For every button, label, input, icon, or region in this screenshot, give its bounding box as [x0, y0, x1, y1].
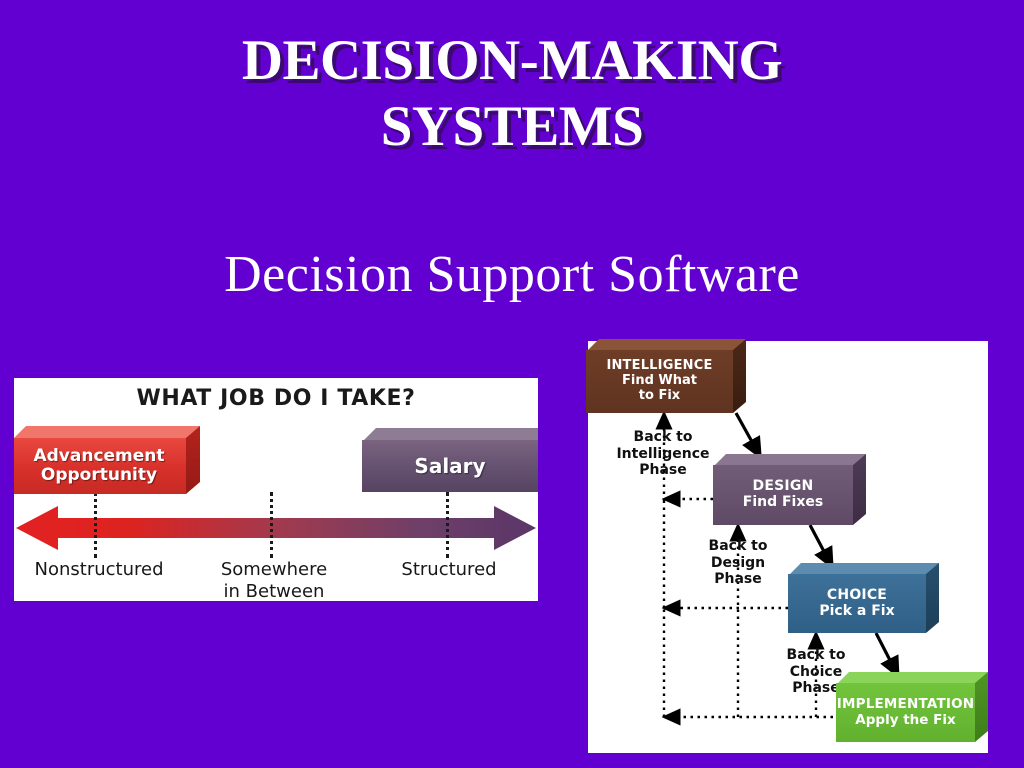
box-advancement-opportunity: Advancement Opportunity [14, 426, 200, 494]
phase-title: CHOICE [827, 588, 887, 604]
axis-label-somewhere-in-between: Somewhere in Between [186, 559, 362, 601]
box-salary-label: Salary [362, 440, 538, 492]
phase-title: IMPLEMENTATION [837, 697, 975, 712]
phase-subtitle: Pick a Fix [819, 604, 894, 620]
phase-box-intelligence: INTELLIGENCE Find What to Fix [586, 339, 746, 413]
box-side-face [853, 454, 866, 525]
axis-label-nonstructured: Nonstructured [14, 559, 184, 581]
phase-box-choice: CHOICE Pick a Fix [788, 563, 939, 633]
feedback-label-back-to-design-phase: Back to Design Phase [686, 538, 790, 588]
box-advancement-opportunity-label: Advancement Opportunity [14, 438, 186, 494]
phase-box-implementation-text: IMPLEMENTATION Apply the Fix [836, 683, 975, 742]
page-subtitle: Decision Support Software [0, 245, 1024, 304]
tick-nonstructured [94, 492, 97, 558]
phase-subtitle: Find What to Fix [622, 374, 697, 404]
axis-label-structured: Structured [366, 559, 532, 581]
phase-box-implementation: IMPLEMENTATION Apply the Fix [836, 672, 988, 742]
phase-box-intelligence-text: INTELLIGENCE Find What to Fix [586, 350, 733, 413]
figure-what-job-do-i-take: WHAT JOB DO I TAKE? Nonstructured Somewh… [14, 378, 538, 601]
box-side-face [733, 339, 746, 413]
figure-decision-phases: Back to Intelligence Phase Back to Desig… [588, 341, 988, 753]
phase-title: INTELLIGENCE [606, 359, 712, 374]
phase-box-design: DESIGN Find Fixes [713, 454, 866, 525]
figure-job-heading: WHAT JOB DO I TAKE? [14, 386, 538, 411]
phase-subtitle: Find Fixes [743, 495, 823, 511]
phase-title: DESIGN [753, 479, 814, 495]
feedback-label-back-to-intelligence-phase: Back to Intelligence Phase [602, 429, 724, 479]
box-side-face [186, 426, 200, 494]
tick-structured [446, 492, 449, 558]
phase-box-choice-text: CHOICE Pick a Fix [788, 574, 926, 633]
box-side-face [975, 672, 988, 742]
box-salary: Salary [362, 428, 538, 492]
tick-somewhere-in-between [270, 492, 273, 558]
structuredness-arrow [14, 504, 538, 552]
figure-job-canvas: WHAT JOB DO I TAKE? Nonstructured Somewh… [14, 378, 538, 601]
phase-box-design-text: DESIGN Find Fixes [713, 465, 853, 525]
box-side-face [926, 563, 939, 633]
page-title: DECISION-MAKING SYSTEMS [0, 28, 1024, 160]
phase-subtitle: Apply the Fix [855, 713, 955, 728]
